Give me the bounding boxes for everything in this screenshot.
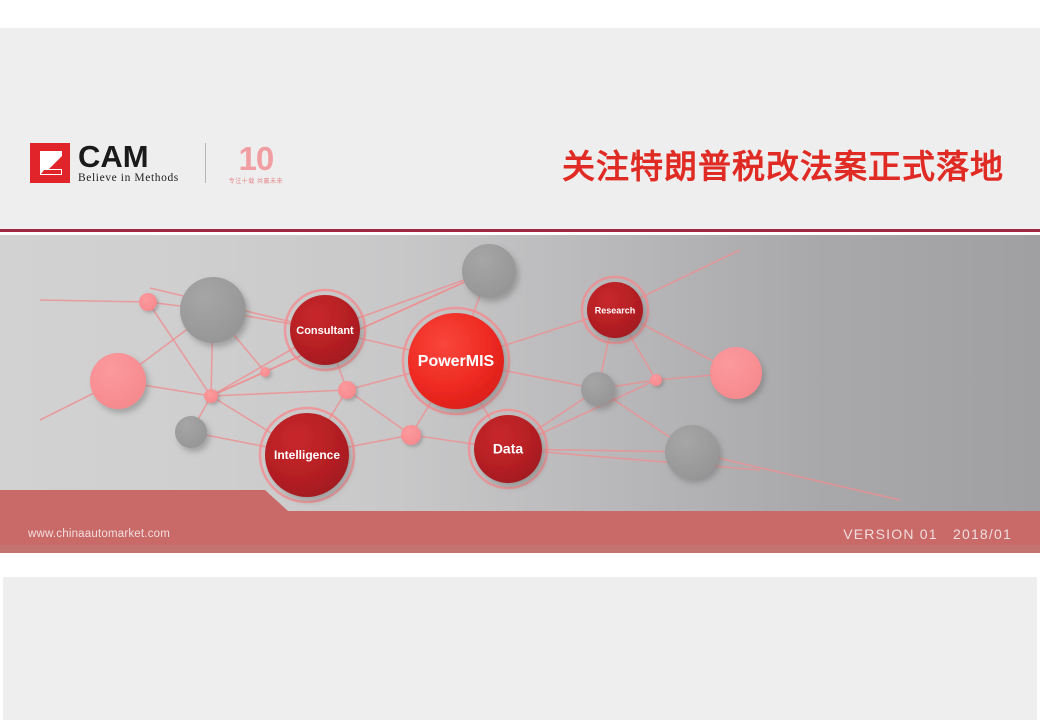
brand-logo[interactable]: CAM Believe in Methods 10 专注十载 共赢未来 [30,138,284,188]
anniversary-badge: 10 专注十载 共赢未来 [228,141,284,185]
network-node-gray [665,425,719,479]
network-node-pink [139,293,157,311]
node-label: PowerMIS [418,353,495,370]
node-label: Consultant [296,325,354,337]
network-edge [40,300,148,302]
network-node-pink [650,374,662,386]
network-node-gray [180,277,246,343]
network-edge [211,390,347,396]
network-node-intelligence[interactable]: Intelligence [260,408,354,502]
network-node-pink [90,353,146,409]
slide-body-area [3,577,1037,720]
network-edge [347,390,411,435]
network-banner: PowerMISConsultantIntelligenceDataResear… [0,235,1040,553]
slide-left-edge [0,577,3,720]
network-node-consultant[interactable]: Consultant [285,290,365,370]
network-diagram: PowerMISConsultantIntelligenceDataResear… [0,235,1040,553]
page-top-margin [0,0,1040,28]
network-node-pink [401,425,421,445]
header-divider [0,229,1040,232]
slide-header: CAM Believe in Methods 10 专注十载 共赢未来 关注特朗… [0,28,1040,231]
logo-tagline: Believe in Methods [78,172,179,184]
logo-name: CAM [78,142,179,171]
cam-logo-mark-icon [30,143,70,183]
network-node-pink [710,347,762,399]
network-node-pink [204,389,218,403]
node-label: Research [595,305,636,315]
logo-wordmark: CAM Believe in Methods [78,142,179,184]
network-node-pink [338,381,356,399]
network-node-gray [462,244,516,298]
network-node-data[interactable]: Data [469,410,547,488]
anniversary-number: 10 [239,142,274,175]
network-node-powermis[interactable]: PowerMIS [403,308,509,414]
network-edge [692,452,900,500]
anniversary-subtitle: 专注十载 共赢未来 [229,176,283,185]
footer-version: VERSION 01 2018/01 [843,526,1012,542]
network-node-research[interactable]: Research [582,277,648,343]
slide-root: CAM Believe in Methods 10 专注十载 共赢未来 关注特朗… [0,0,1040,720]
logo-divider [205,143,206,183]
logo-arrow-icon [30,143,70,183]
node-label: Data [493,441,524,457]
network-node-gray [175,416,207,448]
node-label: Intelligence [274,448,340,462]
network-node-pink [260,367,270,377]
network-node-gray [581,372,615,406]
page-title: 关注特朗普税改法案正式落地 [562,140,1004,188]
footer-url[interactable]: www.chinaautomarket.com [28,528,170,540]
